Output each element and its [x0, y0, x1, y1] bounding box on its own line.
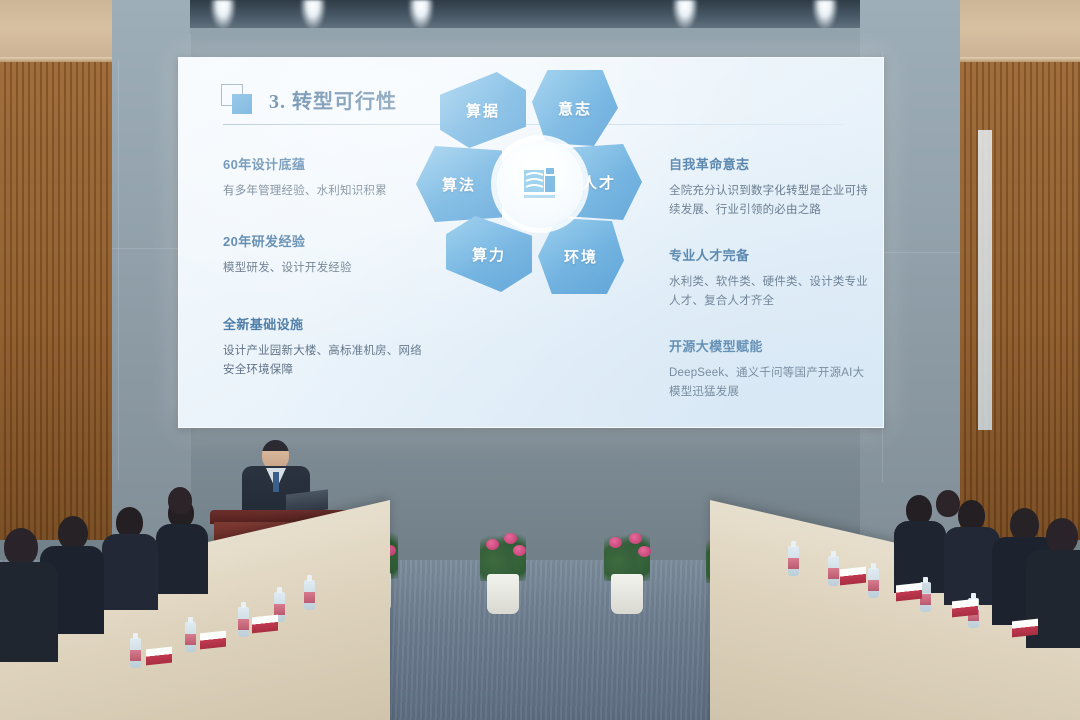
feature-title: 自我革命意志 — [669, 154, 874, 173]
slide-title: 3. 转型可行性 — [269, 85, 397, 114]
feature-title: 60年设计底蕴 — [223, 154, 428, 173]
hexagon-petal-diagram: 算据 意志 算法 人才 算力 环境 — [434, 70, 644, 295]
ceiling-light — [300, 0, 326, 30]
name-card — [952, 599, 978, 618]
wood-slat-panel-left — [0, 0, 112, 540]
water-bottle — [868, 568, 879, 598]
speaker-tie — [273, 472, 279, 492]
door-glass-strip — [978, 130, 992, 430]
feature-body: DeepSeek、通义千问等国产开源AI大模型迅猛发展 — [669, 364, 874, 402]
potted-plant — [604, 528, 650, 614]
feature-body: 设计产业园新大楼、高标准机房、网络安全环境保障 — [223, 342, 428, 380]
feature-body: 有多年管理经验、水利知识积累 — [223, 182, 428, 201]
ceiling-light — [672, 0, 698, 30]
conference-room: 3. 转型可行性 60年设计底蕴 有多年管理经验、水利知识积累 20年研发经验 … — [0, 0, 1080, 720]
water-bottle — [788, 546, 799, 576]
feature-body: 模型研发、设计开发经验 — [223, 259, 428, 278]
name-card — [896, 583, 922, 602]
potted-plant — [480, 528, 526, 614]
feature-body: 全院充分认识到数字化转型是企业可持续发展、行业引领的必由之路 — [669, 182, 874, 220]
name-card — [252, 615, 278, 634]
feature-title: 20年研发经验 — [223, 231, 428, 250]
square-outline-and-filled-icon — [221, 84, 255, 114]
projection-screen: 3. 转型可行性 60年设计底蕴 有多年管理经验、水利知识积累 20年研发经验 … — [178, 57, 884, 428]
name-card — [840, 567, 866, 586]
water-bottle — [130, 638, 141, 668]
ceiling-light — [812, 0, 838, 30]
feature-block: 专业人才完备 水利类、软件类、硬件类、设计类专业人才、复合人才齐全 — [669, 245, 874, 311]
feature-title: 专业人才完备 — [669, 245, 874, 264]
water-bottle — [828, 556, 839, 586]
petal-bottom-right: 环境 — [538, 218, 624, 294]
water-bottle — [304, 580, 315, 610]
presentation-slide: 3. 转型可行性 60年设计底蕴 有多年管理经验、水利知识积累 20年研发经验 … — [179, 58, 883, 427]
petal-bottom-left: 算力 — [446, 216, 532, 292]
petal-left: 算法 — [416, 146, 502, 222]
name-card — [200, 631, 226, 650]
feature-title: 开源大模型赋能 — [669, 336, 874, 355]
feature-block: 60年设计底蕴 有多年管理经验、水利知识积累 — [223, 154, 428, 201]
slide-right-column: 自我革命意志 全院充分认识到数字化转型是企业可持续发展、行业引领的必由之路 专业… — [669, 154, 874, 427]
feature-body: 水利类、软件类、硬件类、设计类专业人才、复合人才齐全 — [669, 273, 874, 311]
petal-top-left: 算据 — [440, 72, 526, 148]
feature-block: 20年研发经验 模型研发、设计开发经验 — [223, 231, 428, 278]
name-card — [1012, 619, 1038, 638]
slide-header: 3. 转型可行性 — [221, 84, 397, 114]
diagram-center — [496, 140, 584, 228]
feature-block: 自我革命意志 全院充分认识到数字化转型是企业可持续发展、行业引领的必由之路 — [669, 154, 874, 220]
water-bottle — [238, 607, 249, 637]
name-card — [146, 647, 172, 666]
petal-top-right: 意志 — [532, 70, 618, 146]
ceiling-light — [408, 0, 434, 30]
feature-block: 全新基础设施 设计产业园新大楼、高标准机房、网络安全环境保障 — [223, 314, 428, 380]
slide-left-column: 60年设计底蕴 有多年管理经验、水利知识积累 20年研发经验 模型研发、设计开发… — [223, 154, 428, 405]
feature-title: 全新基础设施 — [223, 314, 428, 333]
water-bottle — [185, 622, 196, 652]
ceiling-light — [210, 0, 236, 30]
water-institute-logo-icon — [518, 162, 562, 206]
feature-block: 开源大模型赋能 DeepSeek、通义千问等国产开源AI大模型迅猛发展 — [669, 336, 874, 402]
